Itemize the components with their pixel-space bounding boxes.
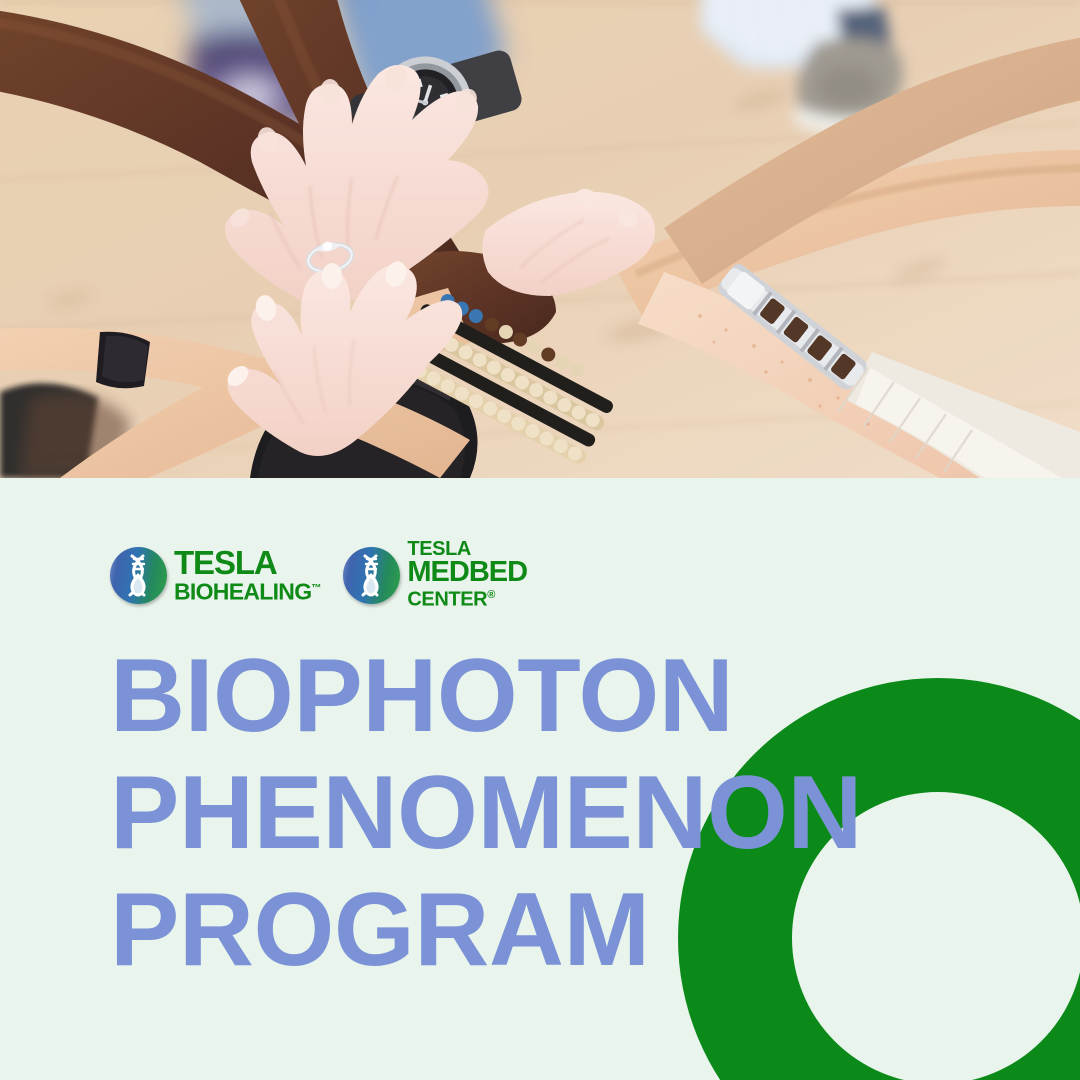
- registered-symbol: ®: [487, 589, 495, 601]
- logo-medbed-text: TESLA MEDBED CENTER®: [407, 540, 527, 611]
- logo-medbed-line2: MEDBED: [407, 559, 527, 585]
- logo-tesla-medbed-center[interactable]: TESLA MEDBED CENTER®: [343, 540, 527, 611]
- dna-helix-badge-icon: [110, 547, 167, 604]
- content-panel: TESLA BIOHEALING™: [0, 478, 1080, 1080]
- logo-medbed-line3: CENTER®: [407, 585, 527, 611]
- page-title: BIOPHOTON PHENOMENON PROGRAM: [110, 638, 930, 989]
- title-line-3: PROGRAM: [110, 872, 930, 989]
- hero-photo: [0, 0, 1080, 478]
- logo-tesla-biohealing[interactable]: TESLA BIOHEALING™: [110, 547, 321, 604]
- logo-row: TESLA BIOHEALING™: [110, 540, 527, 611]
- trademark-symbol: ™: [311, 583, 321, 594]
- logo-biohealing-line2: BIOHEALING™: [174, 577, 321, 604]
- dna-helix-badge-icon: [343, 547, 400, 604]
- title-line-1: BIOPHOTON: [110, 638, 930, 755]
- logo-biohealing-line1: TESLA: [174, 548, 321, 577]
- logo-biohealing-text: TESLA BIOHEALING™: [174, 548, 321, 604]
- poster-canvas: TESLA BIOHEALING™: [0, 0, 1080, 1080]
- title-line-2: PHENOMENON: [110, 755, 930, 872]
